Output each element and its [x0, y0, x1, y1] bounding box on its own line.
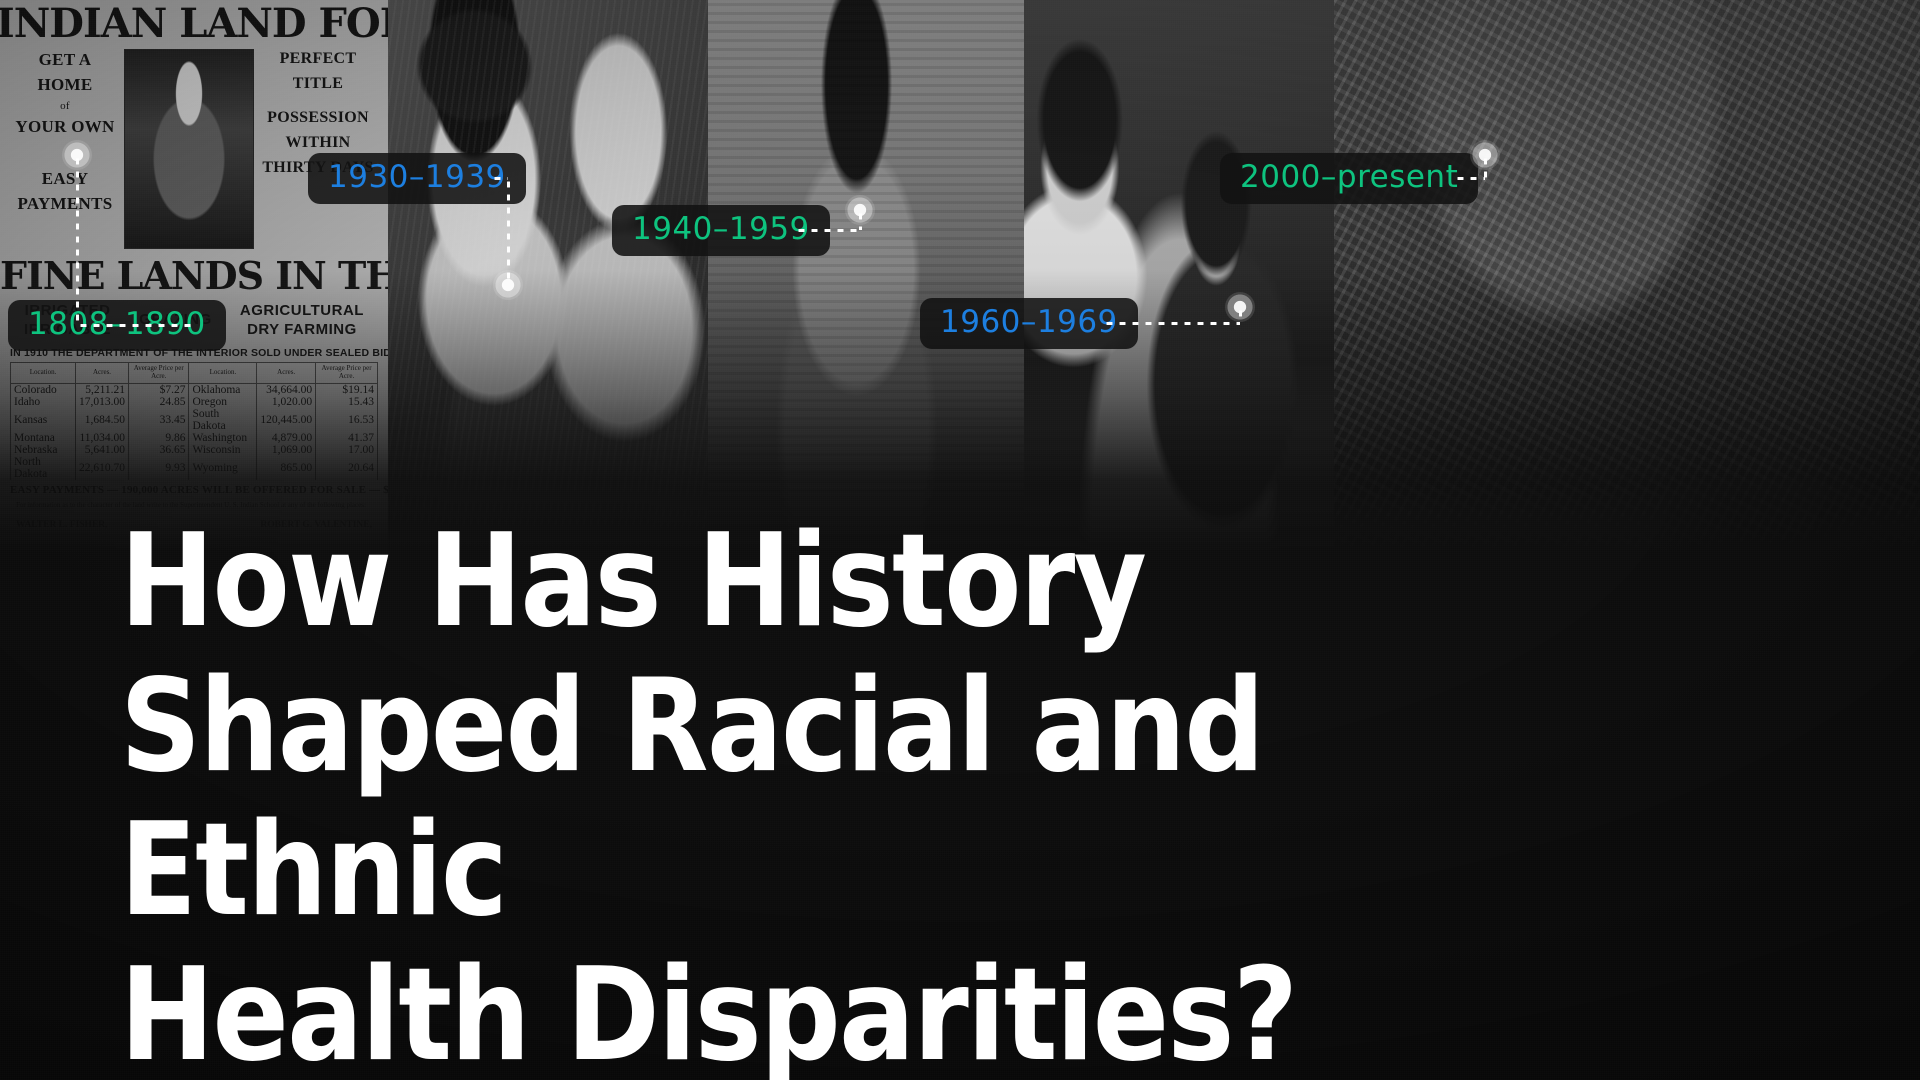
timeline-connector-horizontal: [1454, 177, 1485, 180]
timeline-connector-horizontal: [795, 229, 860, 232]
timeline-connector-horizontal: [1103, 322, 1240, 325]
page-title-line-2: Shaped Racial and Ethnic: [120, 655, 1546, 944]
timeline-connector-vertical: [76, 155, 79, 325]
page-title: How Has History Shaped Racial and Ethnic…: [120, 510, 1740, 1080]
page-title-line-1: How Has History: [120, 510, 1546, 655]
timeline-connector-vertical: [507, 178, 510, 285]
timeline-connector-vertical: [1484, 155, 1487, 178]
timeline-connector-vertical: [859, 210, 862, 230]
timeline-label-2000-present[interactable]: 2000–present: [1220, 153, 1478, 204]
page-title-line-3: Health Disparities?: [120, 944, 1546, 1080]
poster-canvas: INDIAN LAND FOR SALE GET A HOME of YOUR …: [0, 0, 1920, 1080]
timeline-connector-vertical: [1239, 307, 1242, 323]
timeline-connector-horizontal: [77, 324, 191, 327]
timeline-connector-horizontal: [491, 177, 508, 180]
